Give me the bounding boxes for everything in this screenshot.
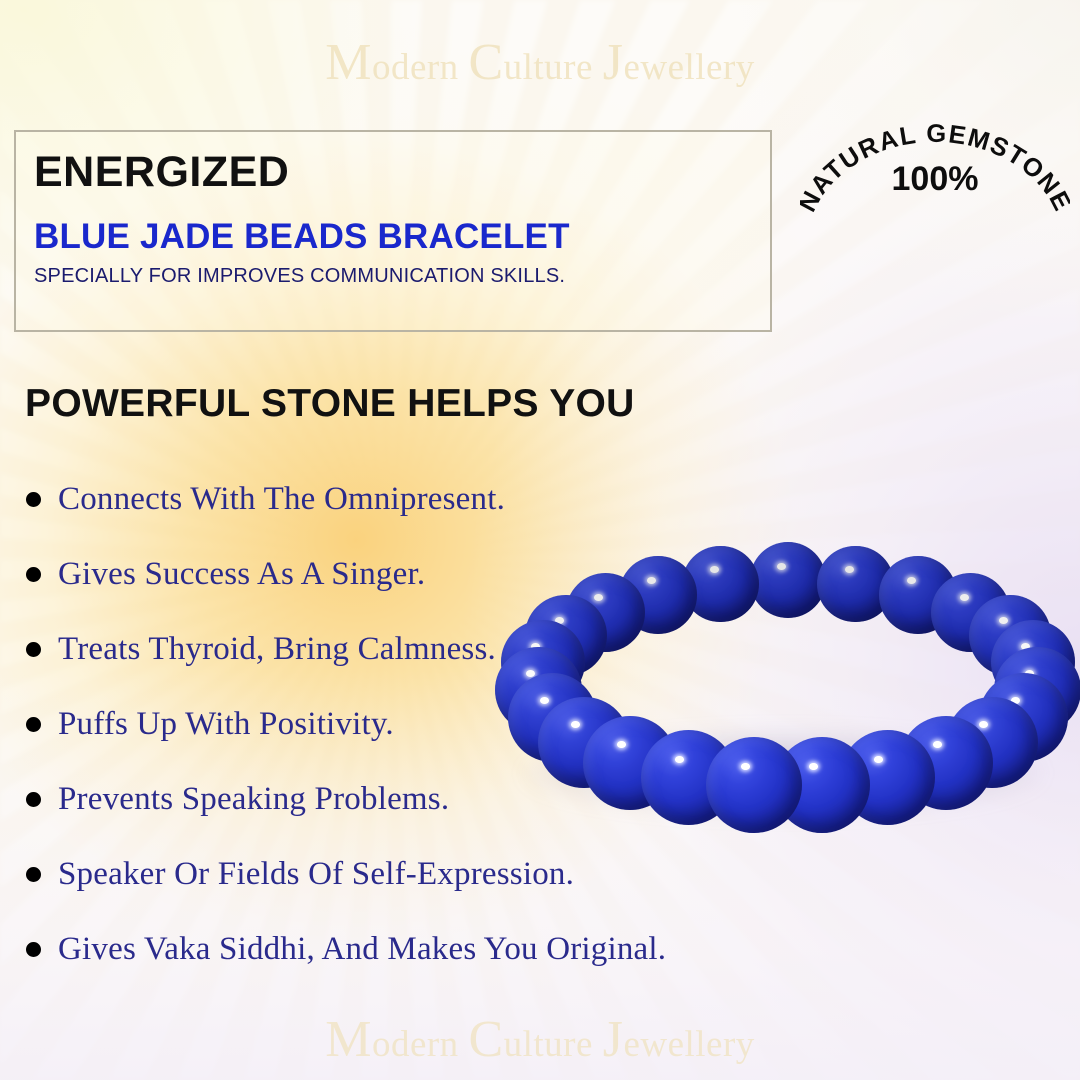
watermark-text-modern: odern xyxy=(372,47,469,88)
benefit-label: Treats Thyroid, Bring Calmness. xyxy=(58,631,496,668)
benefit-label: Connects With The Omnipresent. xyxy=(58,481,505,518)
watermark-capital-m: M xyxy=(325,34,372,91)
watermark-capital-j: J xyxy=(603,1011,624,1068)
benefit-label: Gives Success As A Singer. xyxy=(58,556,425,593)
natural-gemstone-badge: NATURAL GEMSTONE 100% xyxy=(800,108,1070,218)
bracelet-bead xyxy=(750,542,826,618)
bullet-dot-icon xyxy=(26,792,41,807)
benefit-label: Gives Vaka Siddhi, And Makes You Origina… xyxy=(58,931,666,968)
bullet-dot-icon xyxy=(26,642,41,657)
watermark-capital-c: C xyxy=(468,1011,503,1068)
product-title: BLUE JADE BEADS BRACELET xyxy=(34,217,570,257)
bullet-dot-icon xyxy=(26,492,41,507)
product-infographic-canvas: Modern Culture Jewellery ENERGIZED BLUE … xyxy=(0,0,1080,1080)
watermark-capital-j: J xyxy=(603,34,624,91)
watermark-capital-m: M xyxy=(325,1011,372,1068)
bullet-dot-icon xyxy=(26,867,41,882)
watermark-text-culture: ulture xyxy=(504,47,603,88)
watermark-capital-c: C xyxy=(468,34,503,91)
bracelet-bead xyxy=(706,737,802,833)
benefits-heading: POWERFUL STONE HELPS YOU xyxy=(25,382,635,426)
brand-watermark-top: Modern Culture Jewellery xyxy=(0,33,1080,92)
watermark-text-jewellery: ewellery xyxy=(623,1024,754,1065)
watermark-text-culture: ulture xyxy=(504,1024,603,1065)
list-item: Speaker Or Fields Of Self-Expression. xyxy=(18,837,818,912)
benefit-label: Prevents Speaking Problems. xyxy=(58,781,449,818)
bullet-dot-icon xyxy=(26,567,41,582)
benefit-label: Speaker Or Fields Of Self-Expression. xyxy=(58,856,574,893)
header-callout-box: ENERGIZED BLUE JADE BEADS BRACELET SPECI… xyxy=(14,130,772,332)
bullet-dot-icon xyxy=(26,717,41,732)
watermark-text-modern: odern xyxy=(372,1024,469,1065)
list-item: Connects With The Omnipresent. xyxy=(18,462,818,537)
badge-percent-label: 100% xyxy=(800,160,1070,199)
product-subtitle: SPECIALLY FOR IMPROVES COMMUNICATION SKI… xyxy=(34,265,565,288)
product-image-bracelet xyxy=(505,548,1080,833)
bullet-dot-icon xyxy=(26,942,41,957)
brand-watermark-bottom: Modern Culture Jewellery xyxy=(0,1010,1080,1069)
eyebrow-label: ENERGIZED xyxy=(34,148,289,197)
watermark-text-jewellery: ewellery xyxy=(623,47,754,88)
benefit-label: Puffs Up With Positivity. xyxy=(58,706,394,743)
list-item: Gives Vaka Siddhi, And Makes You Origina… xyxy=(18,912,818,987)
